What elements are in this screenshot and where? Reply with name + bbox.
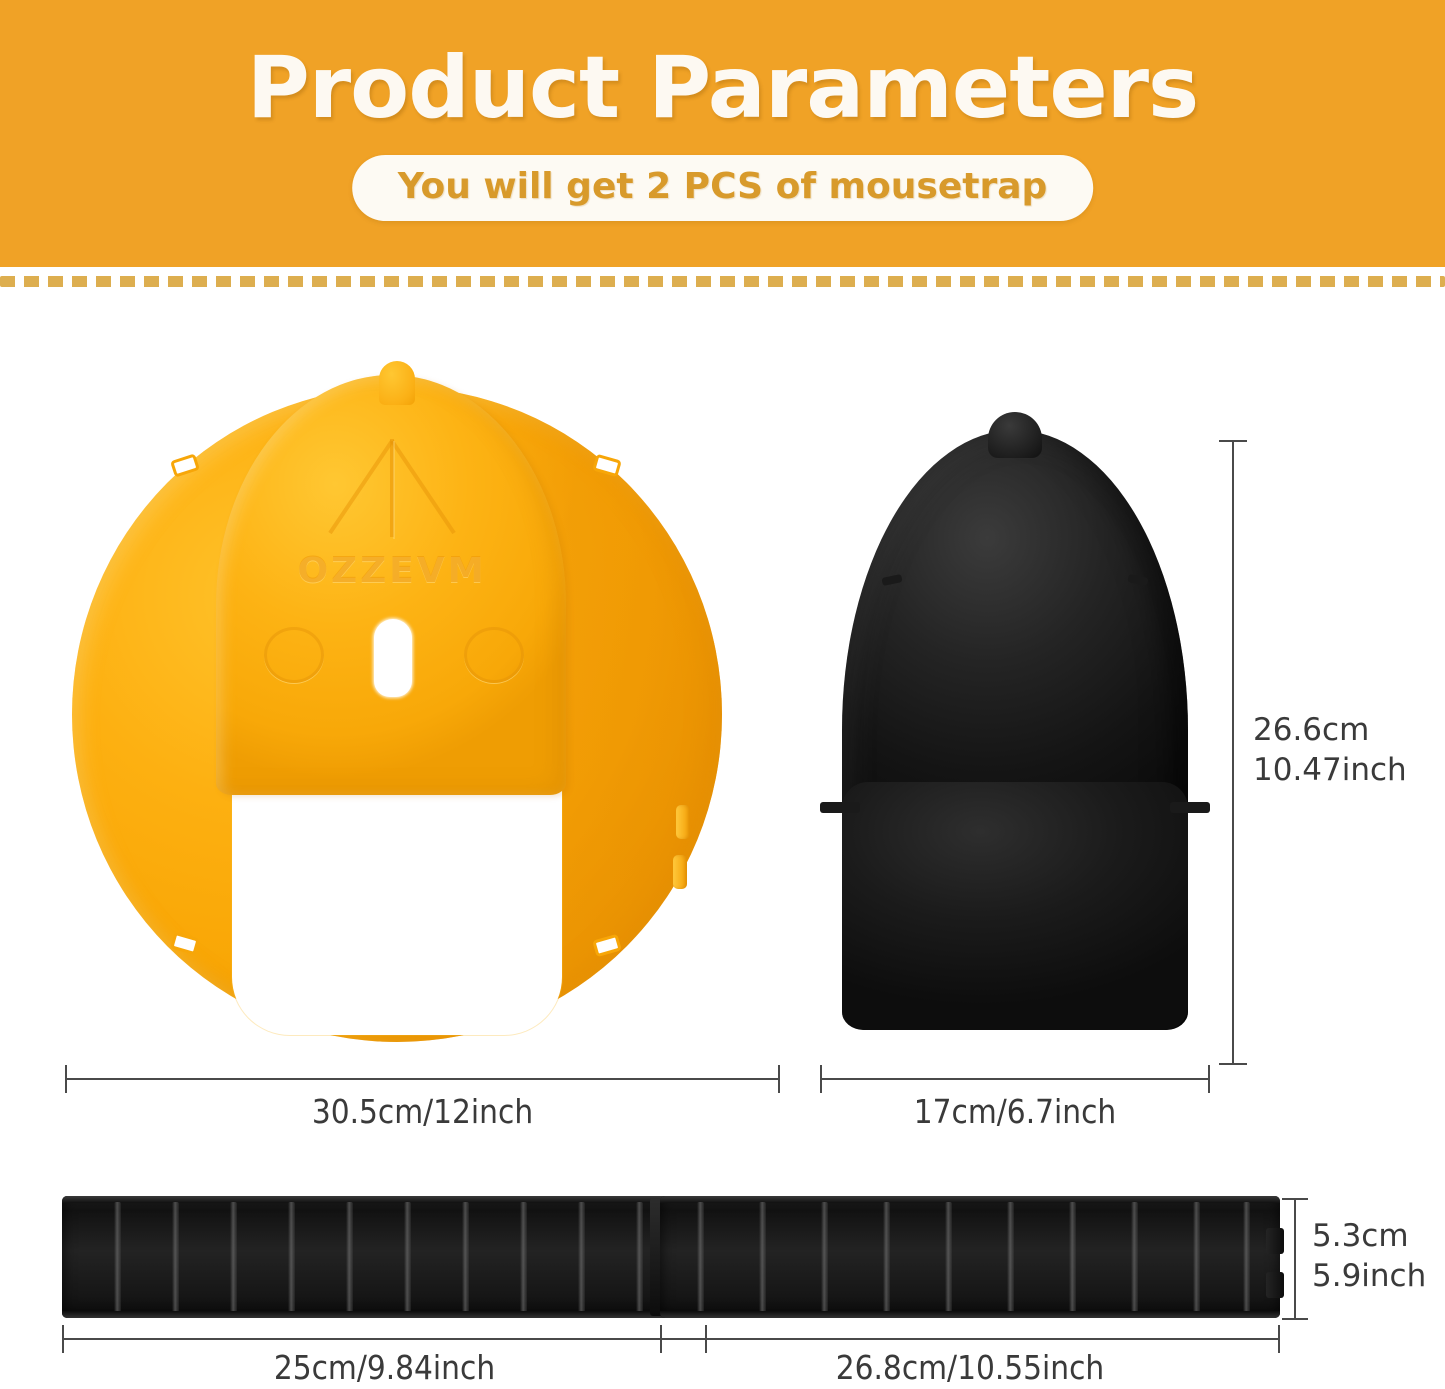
strip-side-tab: [1266, 1272, 1284, 1298]
disc-side-clip: [676, 805, 690, 839]
strip-side-tab: [1266, 1228, 1284, 1254]
black-ribbed-strip-right: [660, 1196, 1280, 1318]
black-dome-flap: [820, 430, 1210, 1030]
strip-height-dimension-line: [1294, 1198, 1296, 1320]
disc-brand-emboss: OZZEVM: [282, 550, 502, 591]
disc-width-dimension-line: [65, 1078, 780, 1080]
flap-width-dimension-label: 17cm/6.7inch: [820, 1092, 1210, 1132]
flap-pivot-pin: [1170, 802, 1210, 813]
strip-lip: [660, 1311, 1280, 1318]
subtitle-badge-label: You will get 2 PCS of mousetrap: [398, 165, 1048, 209]
flap-height-inch: 10.47inch: [1253, 750, 1407, 790]
chevron-up-icon: [312, 433, 472, 545]
strip-right-width-dimension-line: [660, 1338, 1280, 1340]
flap-width-dimension-line: [820, 1078, 1210, 1080]
strip-right-width-dimension-label: 26.8cm/10.55inch: [660, 1348, 1280, 1388]
strip-lip: [62, 1311, 707, 1318]
disc-width-dimension-label: 30.5cm/12inch: [65, 1092, 780, 1132]
flap-pivot-pin: [820, 802, 860, 813]
disc-opening: [232, 765, 562, 1035]
dimension-tick: [820, 1065, 822, 1093]
flap-height-dimension-line: [1232, 440, 1234, 1065]
black-ribbed-strip-left: [62, 1196, 707, 1318]
disc-side-clip: [673, 855, 687, 889]
strip-ribs: [62, 1196, 707, 1318]
flap-nub: [988, 412, 1042, 458]
strip-left-width-dimension-label: 25cm/9.84inch: [62, 1348, 707, 1388]
strip-height-dimension-label: 5.3cm 5.9inch: [1312, 1216, 1426, 1296]
strip-ribs: [660, 1196, 1280, 1318]
header-band: Product Parameters You will get 2 PCS of…: [0, 0, 1445, 267]
disc-emboss-ring: [464, 627, 524, 683]
dimension-tick: [1282, 1198, 1308, 1200]
main-product-row: OZZEVM 26.6cm 10.47inch: [0, 300, 1445, 1090]
flap-height-dimension-label: 26.6cm 10.47inch: [1253, 710, 1407, 790]
strip-height-inch: 5.9inch: [1312, 1256, 1426, 1296]
strip-left-width-dimension-line: [62, 1338, 707, 1340]
dimension-tick: [65, 1065, 67, 1093]
dimension-tick: [1282, 1318, 1308, 1320]
dimension-tick: [778, 1065, 780, 1093]
yellow-circular-lid: OZZEVM: [72, 365, 722, 1065]
dashed-divider: [0, 276, 1445, 287]
subtitle-badge: You will get 2 PCS of mousetrap: [352, 155, 1094, 221]
disc-emboss-ring: [264, 627, 324, 683]
dimension-tick: [1208, 1065, 1210, 1093]
dimension-tick: [1219, 440, 1247, 442]
disc-pivot-slot: [374, 619, 412, 697]
flap-shoulder: [842, 782, 1188, 1030]
strip-height-cm: 5.3cm: [1312, 1216, 1426, 1256]
flap-height-cm: 26.6cm: [1253, 710, 1407, 750]
disc-flap-nub: [379, 361, 415, 405]
page-title: Product Parameters: [0, 38, 1445, 138]
dimension-tick: [1219, 1063, 1247, 1065]
